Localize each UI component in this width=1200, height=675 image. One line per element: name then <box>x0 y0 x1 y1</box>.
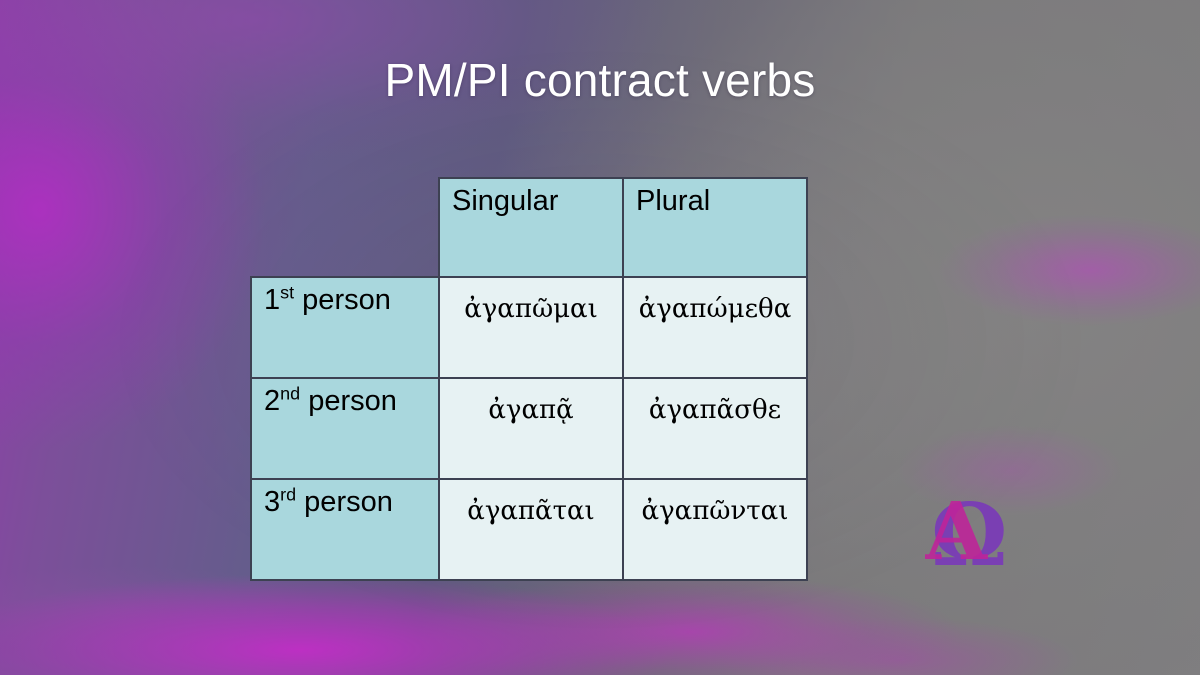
table-corner-cell <box>251 178 439 277</box>
row-label-word: person <box>296 486 393 518</box>
table-row: 2nd person ἀγαπᾷ ἀγαπᾶσθε <box>251 378 807 479</box>
page-title: PM/PI contract verbs <box>0 54 1200 107</box>
table-row: 3rd person ἀγαπᾶται ἀγαπῶνται <box>251 479 807 580</box>
row-label-ordinal: st <box>280 282 294 302</box>
row-label-number: 3 <box>264 486 280 518</box>
slide-canvas: PM/PI contract verbs Singular Plural 1st… <box>0 0 1200 675</box>
row-label-word: person <box>300 385 397 417</box>
column-header-singular: Singular <box>439 178 623 277</box>
row-label-ordinal: nd <box>280 383 300 403</box>
table-row: 1st person ἀγαπῶμαι ἀγαπώμεθα <box>251 277 807 378</box>
verb-form-third-plural: ἀγαπῶνται <box>623 479 807 580</box>
row-label-number: 2 <box>264 385 280 417</box>
row-header-second-person: 2nd person <box>251 378 439 479</box>
verb-form-second-plural: ἀγαπᾶσθε <box>623 378 807 479</box>
row-label-ordinal: rd <box>280 484 296 504</box>
verb-form-first-singular: ἀγαπῶμαι <box>439 277 623 378</box>
row-header-first-person: 1st person <box>251 277 439 378</box>
row-label-number: 1 <box>264 284 280 316</box>
row-label-word: person <box>294 284 391 316</box>
column-header-plural: Plural <box>623 178 807 277</box>
row-header-third-person: 3rd person <box>251 479 439 580</box>
verb-form-third-singular: ἀγαπᾶται <box>439 479 623 580</box>
table-header-row: Singular Plural <box>251 178 807 277</box>
verb-form-first-plural: ἀγαπώμεθα <box>623 277 807 378</box>
alpha-glyph: Α <box>925 487 988 578</box>
conjugation-table: Singular Plural 1st person ἀγαπῶμαι ἀγαπ… <box>250 177 808 581</box>
verb-form-second-singular: ἀγαπᾷ <box>439 378 623 479</box>
alpha-omega-logo-icon: Ω Α <box>925 487 1065 592</box>
